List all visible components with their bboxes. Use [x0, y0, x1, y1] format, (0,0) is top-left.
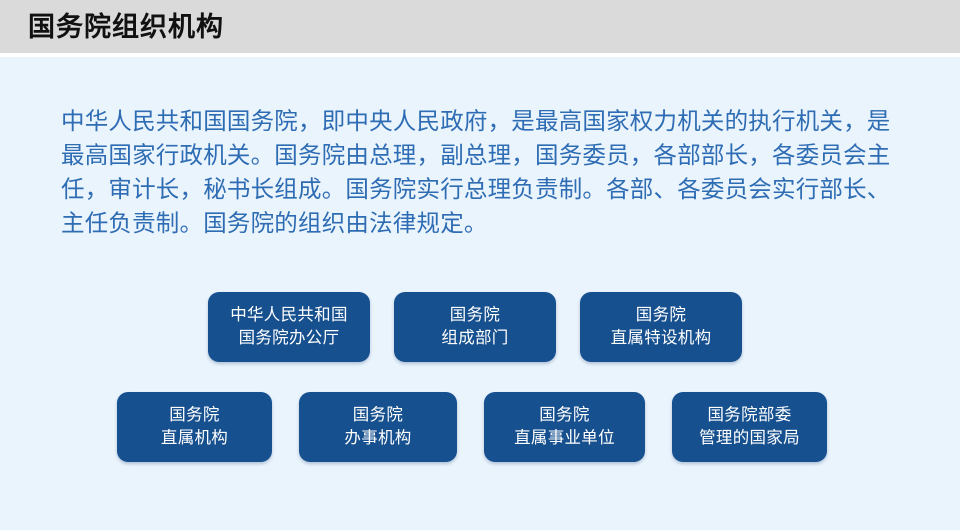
org-box-administrative-offices[interactable]: 国务院 办事机构	[299, 392, 457, 462]
org-box-label: 国务院 直属事业单位	[514, 404, 615, 450]
org-chart: 中华人民共和国 国务院办公厅 国务院 组成部门 国务院 直属特设机构 国务院 直…	[0, 57, 960, 530]
org-box-general-office[interactable]: 中华人民共和国 国务院办公厅	[208, 292, 370, 362]
header-bar: 国务院组织机构	[0, 0, 960, 53]
slide-root: 国务院组织机构 中华人民共和国国务院，即中央人民政府，是最高国家权力机关的执行机…	[0, 0, 960, 530]
org-box-label: 国务院 直属特设机构	[611, 304, 712, 350]
org-chart-row-1: 中华人民共和国 国务院办公厅 国务院 组成部门 国务院 直属特设机构	[208, 292, 742, 362]
content-panel: 中华人民共和国国务院，即中央人民政府，是最高国家权力机关的执行机关，是最高国家行…	[0, 57, 960, 530]
org-box-public-institutions[interactable]: 国务院 直属事业单位	[484, 392, 645, 462]
org-box-label: 中华人民共和国 国务院办公厅	[230, 304, 348, 350]
page-title: 国务院组织机构	[28, 9, 224, 45]
org-chart-row-2: 国务院 直属机构 国务院 办事机构 国务院 直属事业单位 国务院部委 管理的国家…	[117, 392, 827, 462]
org-box-constituent-departments[interactable]: 国务院 组成部门	[394, 292, 556, 362]
org-box-label: 国务院 办事机构	[344, 404, 411, 450]
org-box-directly-affiliated-institutions[interactable]: 国务院 直属机构	[117, 392, 272, 462]
org-box-label: 国务院部委 管理的国家局	[699, 404, 800, 450]
org-box-special-organization[interactable]: 国务院 直属特设机构	[580, 292, 742, 362]
org-box-label: 国务院 组成部门	[441, 304, 508, 350]
org-box-state-administrations[interactable]: 国务院部委 管理的国家局	[672, 392, 827, 462]
org-box-label: 国务院 直属机构	[161, 404, 228, 450]
